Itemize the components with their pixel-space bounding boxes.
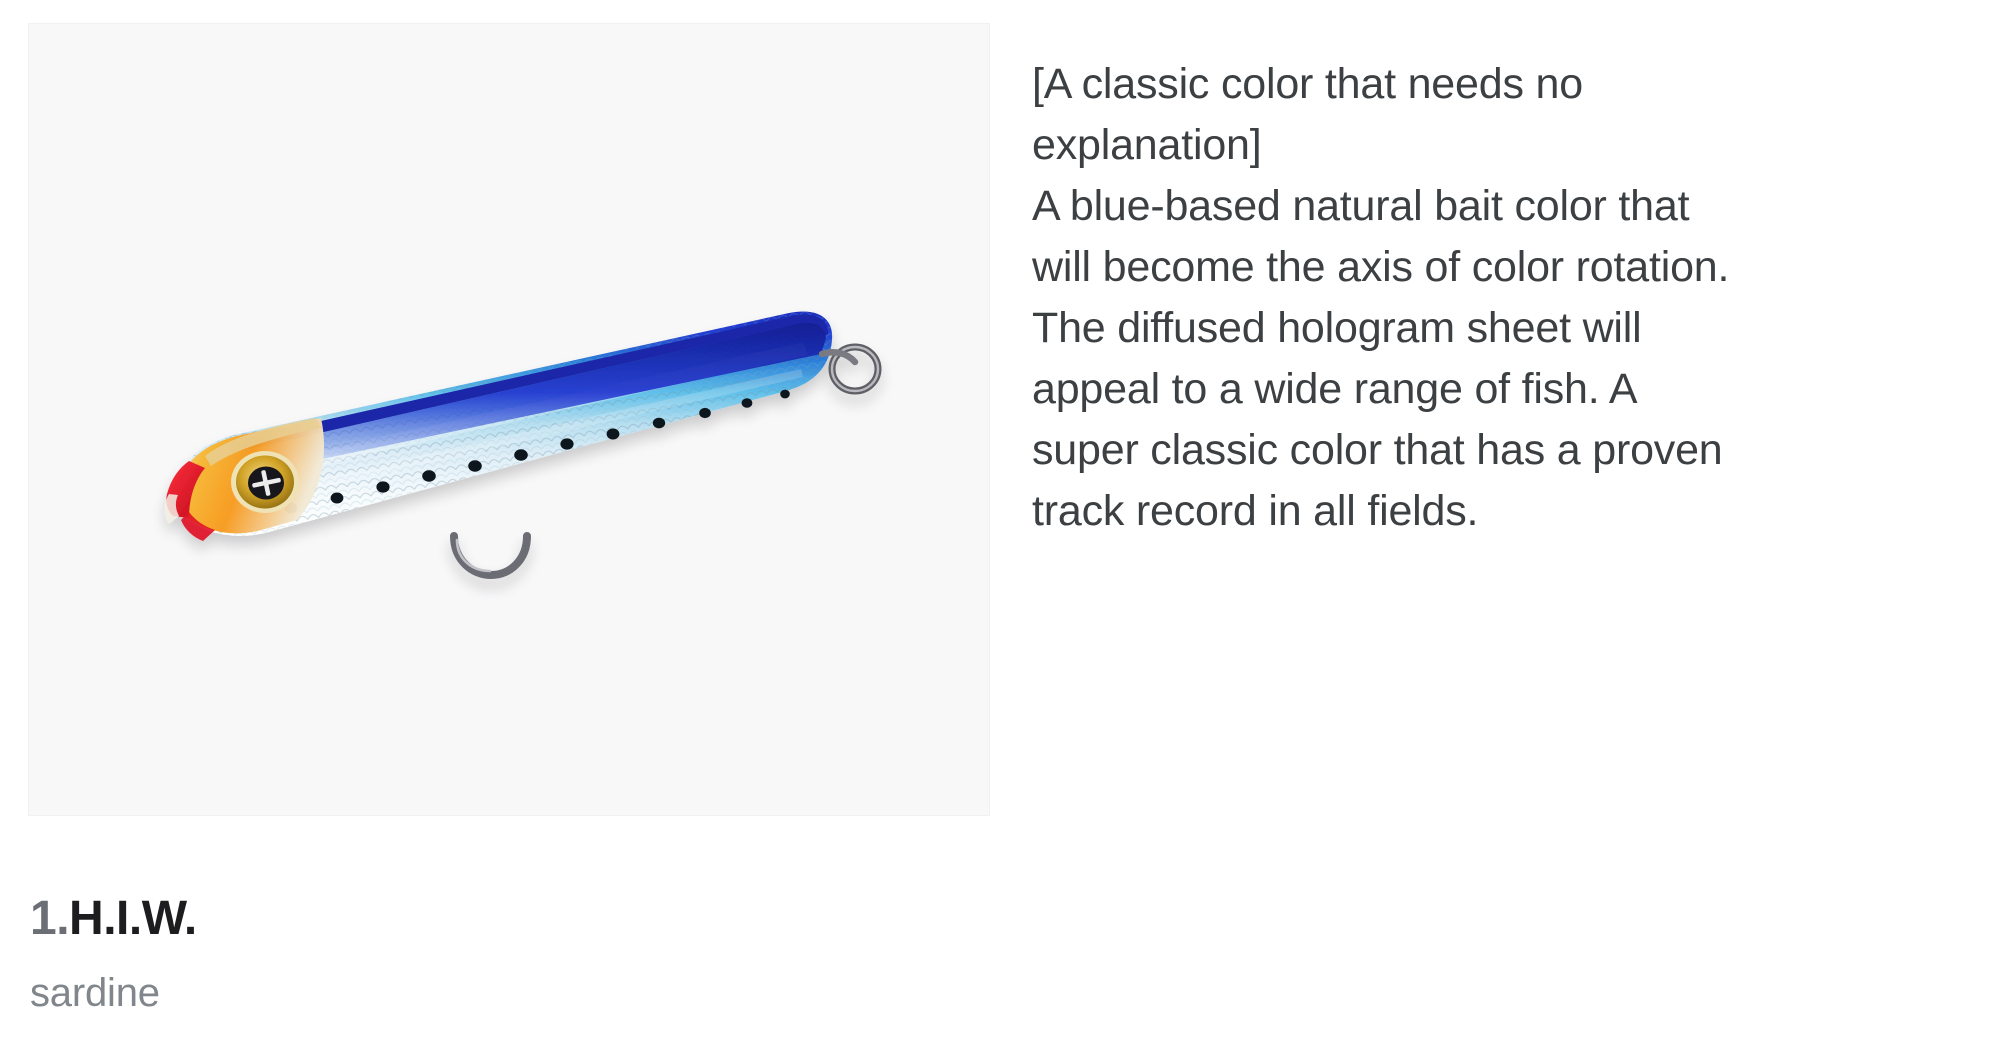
lure-illustration — [29, 24, 990, 816]
caption-title: 1.H.I.W. — [30, 890, 930, 948]
belly-hook-ring — [454, 536, 527, 575]
caption-index: 1. — [30, 892, 69, 945]
product-color-detail-page: [A classic color that needs no explanati… — [0, 0, 2000, 1063]
description-paragraph: [A classic color that needs no explanati… — [1032, 54, 1994, 542]
product-caption: 1.H.I.W. sardine — [30, 890, 930, 1018]
lure-body-group — [149, 294, 878, 575]
lure-svg — [29, 24, 990, 816]
caption-name: H.I.W. — [69, 892, 197, 945]
color-description: [A classic color that needs no explanati… — [1032, 54, 1994, 542]
lure-eye — [231, 451, 299, 513]
caption-subtitle: sardine — [30, 968, 930, 1018]
product-image-card[interactable] — [28, 23, 990, 816]
